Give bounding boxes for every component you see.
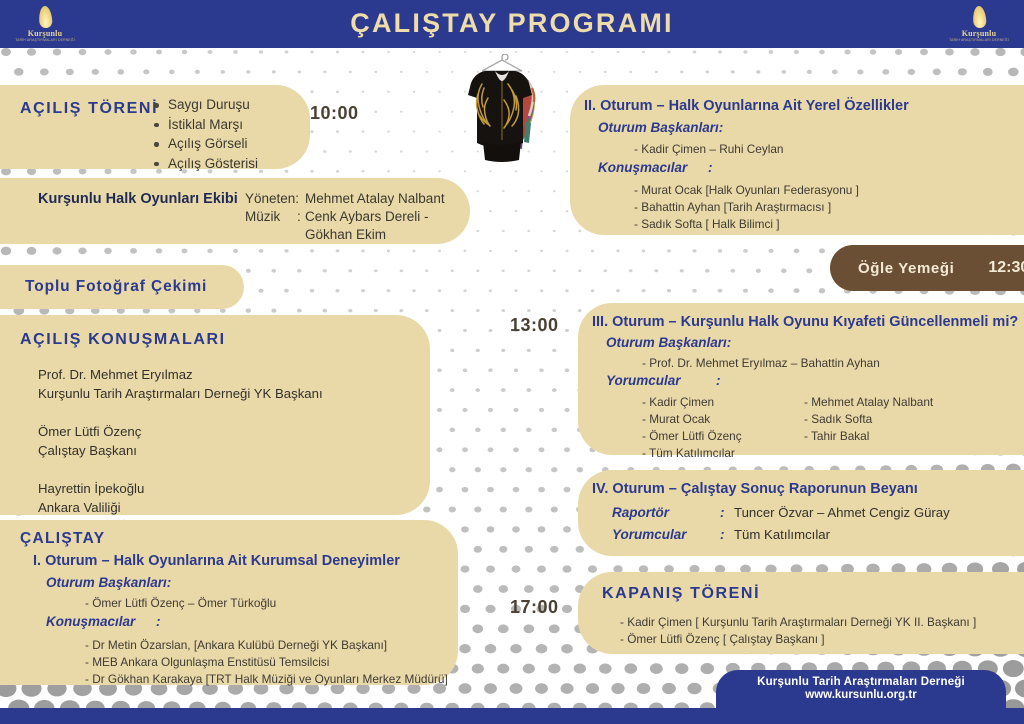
lunch-label: Öğle Yemeği [858,260,954,277]
session-4-title: IV. Oturum – Çalıştay Sonuç Raporunun Be… [592,481,918,497]
session-1-speaker-label: Konuşmacılar [46,614,156,629]
speaker-name: Prof. Dr. Mehmet Eryılmaz [38,365,323,384]
speaker-title: Ankara Valiliği [38,498,323,517]
folk-team-row: Müzik : Cenk Aybars Dereli - [245,208,445,226]
folk-team-title: Kurşunlu Halk Oyunları Ekibi [38,191,238,207]
session-2-chair-label: Oturum Başkanları: [598,120,723,135]
folk-team-row-value: Gökhan Ekim [305,226,386,244]
card-closing-ceremony: KAPANIŞ TÖRENİ - Kadir Çimen [ Kurşunlu … [578,572,1024,654]
session-1-speaker-label-row: Konuşmacılar : [46,614,161,629]
opening-speeches-heading: AÇILIŞ KONUŞMALARI [20,331,226,349]
card-session-3: III. Oturum – Kurşunlu Halk Oyunu Kıyafe… [578,303,1024,455]
folk-team-row-value: Cenk Aybars Dereli - [305,208,429,226]
session-3-title: III. Oturum – Kurşunlu Halk Oyunu Kıyafe… [592,314,1018,330]
commentator-item: - Tüm Katılımcılar [642,445,804,462]
folk-team-row-key: Yöneten: [245,190,305,208]
opening-ceremony-heading: AÇILIŞ TÖRENİ [20,100,158,118]
poster-root: AÇILIŞ TÖRENİ Saygı Duruşu İstiklal Marş… [0,0,1024,724]
card-session-4: IV. Oturum – Çalıştay Sonuç Raporunun Be… [578,470,1024,556]
group-photo-title: Toplu Fotoğraf Çekimi [25,278,207,296]
card-session-2: II. Oturum – Halk Oyunlarına Ait Yerel Ö… [570,85,1024,235]
commentator-item: - Tahir Bakal [804,428,966,445]
session-3-commentators: - Kadir Çimen - Murat Ocak - Ömer Lütfi … [642,394,966,462]
opening-ceremony-list: Saygı Duruşu İstiklal Marşı Açılış Görse… [152,95,258,173]
session-1-speaker-colon: : [156,614,161,629]
session-4-row-key: Raportör [612,502,720,524]
opening-speeches-list: Prof. Dr. Mehmet Eryılmaz Kurşunlu Tarih… [38,365,323,536]
workshop-heading: ÇALIŞTAY [20,530,105,548]
commentator-item: - Sadık Softa [804,411,966,428]
session-4-row-value: Tüm Katılımcılar [734,524,830,546]
header-bar: Kurşunlu TARİH ARAŞTIRMALARI DERNEĞİ ÇAL… [0,0,1024,48]
time-stamp-1700: 17:00 [510,597,559,618]
logo-name: Kurşunlu [962,29,997,38]
session-3-chair-label: Oturum Başkanları: [606,335,731,350]
folk-team-rows: Yöneten: Mehmet Atalay Nalbant Müzik : C… [245,190,445,244]
session-2-chair: - Kadir Çimen – Ruhi Ceylan [634,142,784,156]
folk-team-row-key [245,226,305,244]
speaker-name: Ömer Lütfi Özenç [38,422,323,441]
list-item: Açılış Gösterisi [152,154,258,174]
commentator-item: - Ömer Lütfi Özenç [642,428,804,445]
page-title: ÇALIŞTAY PROGRAMI [0,8,1024,39]
closing-heading: KAPANIŞ TÖRENİ [602,585,760,603]
list-item: Açılış Görseli [152,134,258,154]
session-4-row-colon: : [720,502,734,524]
session-2-speaker-label-row: Konuşmacılar : [598,160,713,175]
folk-team-row: Gökhan Ekim [245,226,445,244]
speaker-title: Çalıştay Başkanı [38,441,323,460]
folk-team-row-colon: : [297,208,305,226]
footer-bar [0,708,1024,724]
list-item: Saygı Duruşu [152,95,258,115]
commentators-column-2: - Mehmet Atalay Nalbant - Sadık Softa - … [804,394,966,462]
footer-organization: Kurşunlu Tarih Araştırmaları Derneği [716,676,1006,688]
session-1-chair-label: Oturum Başkanları: [46,575,171,590]
speaker-name: Hayrettin İpekoğlu [38,479,323,498]
folk-team-row-value: Mehmet Atalay Nalbant [305,190,445,208]
session-2-title: II. Oturum – Halk Oyunlarına Ait Yerel Ö… [584,98,909,114]
card-opening-speeches: AÇILIŞ KONUŞMALARI Prof. Dr. Mehmet Eryı… [0,315,430,515]
speaker-item: - Murat Ocak [Halk Oyunları Federasyonu … [634,182,859,199]
folk-team-row: Yöneten: Mehmet Atalay Nalbant [245,190,445,208]
session-4-row: Raportör : Tuncer Özvar – Ahmet Cengiz G… [612,502,950,524]
session-1-chair: - Ömer Lütfi Özenç – Ömer Türkoğlu [85,596,276,610]
lunch-badge: Öğle Yemeği 12:30 [830,245,1024,291]
speaker-title: Kurşunlu Tarih Araştırmaları Derneği YK … [38,384,323,403]
session-4-row-value: Tuncer Özvar – Ahmet Cengiz Güray [734,502,950,524]
commentators-column-1: - Kadir Çimen - Murat Ocak - Ömer Lütfi … [642,394,804,462]
speaker-item: - Sadık Softa [ Halk Bilimci ] [634,216,859,233]
session-2-speakers: - Murat Ocak [Halk Oyunları Federasyonu … [634,182,859,233]
flame-icon [972,6,987,29]
session-3-chair: - Prof. Dr. Mehmet Eryılmaz – Bahattin A… [642,356,880,370]
speaker-item: - Dr Metin Özarslan, [Ankara Kulübü Dern… [85,637,448,654]
commentator-item: - Murat Ocak [642,411,804,428]
closing-items: - Kadir Çimen [ Kurşunlu Tarih Araştırma… [620,614,976,648]
speaker-item: - Dr Gökhan Karakaya [TRT Halk Müziği ve… [85,671,448,688]
commentator-item: - Mehmet Atalay Nalbant [804,394,966,411]
session-2-speaker-label: Konuşmacılar [598,160,708,175]
logo-right: Kurşunlu TARİH ARAŞTIRMALARI DERNEĞİ [946,2,1012,46]
card-folk-team: Kurşunlu Halk Oyunları Ekibi Yöneten: Me… [0,178,470,244]
card-group-photo: Toplu Fotoğraf Çekimi [0,265,244,309]
lunch-time: 12:30 [988,259,1024,277]
commentator-item: - Kadir Çimen [642,394,804,411]
session-4-row: Yorumcular : Tüm Katılımcılar [612,524,950,546]
session-3-commentator-colon: : [716,373,721,388]
session-1-speakers: - Dr Metin Özarslan, [Ankara Kulübü Dern… [85,637,448,688]
list-item: İstiklal Marşı [152,115,258,135]
session-3-commentator-label-row: Yorumcular : [606,373,721,388]
session-2-speaker-colon: : [708,160,713,175]
session-4-row-key: Yorumcular [612,524,720,546]
footer-website: www.kursunlu.org.tr [716,689,1006,701]
closing-item: - Kadir Çimen [ Kurşunlu Tarih Araştırma… [620,614,976,631]
card-workshop-session-1: ÇALIŞTAY I. Oturum – Halk Oyunlarına Ait… [0,520,458,685]
time-stamp-1300: 13:00 [510,315,559,336]
session-4-row-colon: : [720,524,734,546]
folk-team-row-key: Müzik [245,208,297,226]
speaker-item: - MEB Ankara Olgunlaşma Enstitüsü Temsil… [85,654,448,671]
speaker-item: - Bahattin Ayhan [Tarih Araştırmacısı ] [634,199,859,216]
closing-item: - Ömer Lütfi Özenç [ Çalıştay Başkanı ] [620,631,976,648]
session-3-commentator-label: Yorumcular [606,373,716,388]
card-opening-ceremony: AÇILIŞ TÖRENİ Saygı Duruşu İstiklal Marş… [0,85,310,169]
session-1-title: I. Oturum – Halk Oyunlarına Ait Kurumsal… [33,553,400,569]
folk-costume-image [452,54,552,164]
time-stamp-1000: 10:00 [310,103,359,124]
logo-subtitle: TARİH ARAŞTIRMALARI DERNEĞİ [949,38,1009,42]
session-4-rows: Raportör : Tuncer Özvar – Ahmet Cengiz G… [612,502,950,546]
